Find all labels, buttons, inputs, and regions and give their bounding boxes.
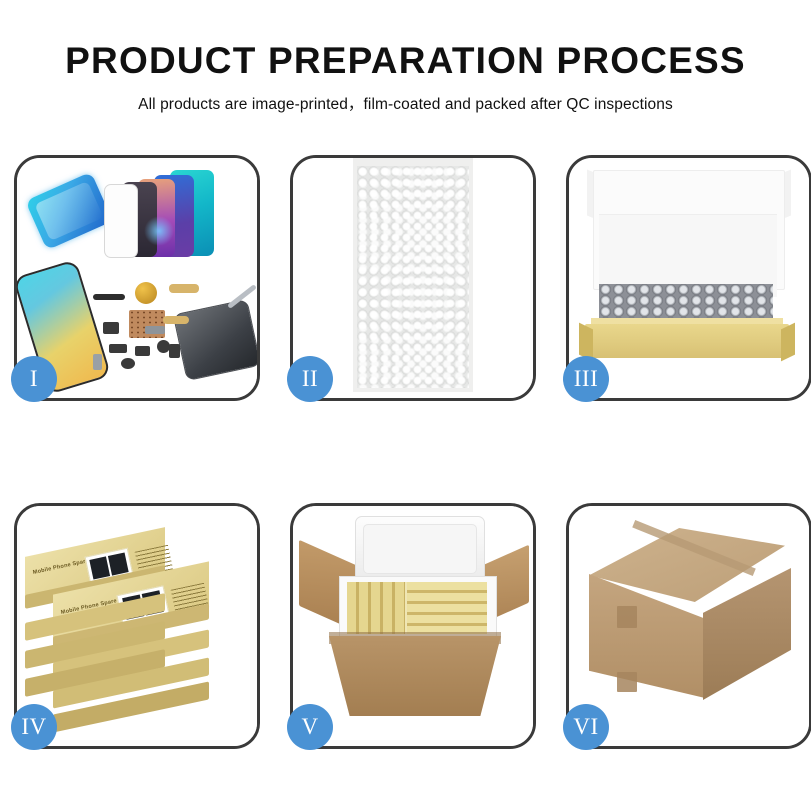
sealed-shipping-carton-image bbox=[569, 506, 809, 746]
step-5-panel[interactable]: V bbox=[290, 503, 536, 749]
product-preparation-poster: PRODUCT PREPARATION PROCESS All products… bbox=[0, 0, 811, 811]
process-row-bottom: Mobile Phone Spare Parts Mobile Phone Sp… bbox=[14, 503, 804, 749]
phone-white-glass bbox=[104, 184, 138, 258]
carton-tape-patch bbox=[617, 672, 637, 692]
carton-with-foam-box-image bbox=[293, 506, 533, 746]
step-2-panel[interactable]: II bbox=[290, 155, 536, 401]
bubble-wrap-highlight bbox=[357, 166, 469, 388]
gold-box-with-bubble-tray-image bbox=[569, 158, 809, 398]
step-badge-2: II bbox=[287, 356, 333, 402]
foam-lid bbox=[355, 516, 485, 582]
stacked-gold-boxes-image: Mobile Phone Spare Parts Mobile Phone Sp… bbox=[17, 506, 257, 746]
step-3-panel[interactable]: III bbox=[566, 155, 811, 401]
gold-boxes-group-right bbox=[407, 582, 487, 634]
flex-cable-part-icon bbox=[169, 284, 199, 293]
page-subtitle: All products are image-printed，film-coat… bbox=[0, 92, 811, 114]
process-step-1: I bbox=[14, 155, 254, 401]
small-part-icon bbox=[135, 346, 150, 356]
flex-cable-part-icon bbox=[163, 316, 189, 324]
small-part-icon bbox=[169, 344, 180, 358]
process-step-2: II bbox=[290, 155, 530, 401]
page-title: PRODUCT PREPARATION PROCESS bbox=[0, 42, 811, 81]
step-badge-6: VI bbox=[563, 704, 609, 750]
speaker-bar-part-icon bbox=[93, 294, 125, 300]
process-step-6: VI bbox=[566, 503, 806, 749]
step-4-panel[interactable]: Mobile Phone Spare Parts Mobile Phone Sp… bbox=[14, 503, 260, 749]
carton-body bbox=[329, 636, 501, 716]
step-1-panel[interactable]: I bbox=[14, 155, 260, 401]
screen-protector-film-icon bbox=[25, 172, 113, 251]
small-part-icon bbox=[121, 358, 135, 369]
gold-coin-part-icon bbox=[135, 282, 157, 304]
process-step-4: Mobile Phone Spare Parts Mobile Phone Sp… bbox=[14, 503, 254, 749]
carton-tape-patch bbox=[617, 606, 637, 628]
phone-back-housing-icon bbox=[173, 299, 257, 381]
process-row-top: I II bbox=[14, 155, 804, 401]
step-6-panel[interactable]: VI bbox=[566, 503, 811, 749]
step-badge-5: V bbox=[287, 704, 333, 750]
gold-boxes-inside bbox=[347, 582, 487, 634]
cracked-glass-icon bbox=[144, 216, 174, 246]
step-badge-1: I bbox=[11, 356, 57, 402]
process-step-5: V bbox=[290, 503, 530, 749]
process-steps-grid: I II bbox=[14, 155, 804, 749]
gold-box-stack: Mobile Phone Spare Parts Mobile Phone Sp… bbox=[23, 520, 247, 730]
small-part-icon bbox=[103, 322, 119, 334]
step-badge-4: IV bbox=[11, 704, 57, 750]
small-part-icon bbox=[93, 354, 102, 370]
phone-lineup-group bbox=[102, 170, 242, 264]
small-part-icon bbox=[109, 344, 127, 353]
small-part-icon bbox=[145, 326, 165, 334]
gold-box-base bbox=[585, 324, 789, 358]
poster-header: PRODUCT PREPARATION PROCESS All products… bbox=[0, 42, 811, 114]
step-badge-3: III bbox=[563, 356, 609, 402]
bubble-wrapped-screen-image bbox=[293, 158, 533, 398]
phone-parts-collage-image bbox=[17, 158, 257, 398]
process-step-3: III bbox=[566, 155, 806, 401]
gold-boxes-group-left bbox=[347, 582, 405, 634]
